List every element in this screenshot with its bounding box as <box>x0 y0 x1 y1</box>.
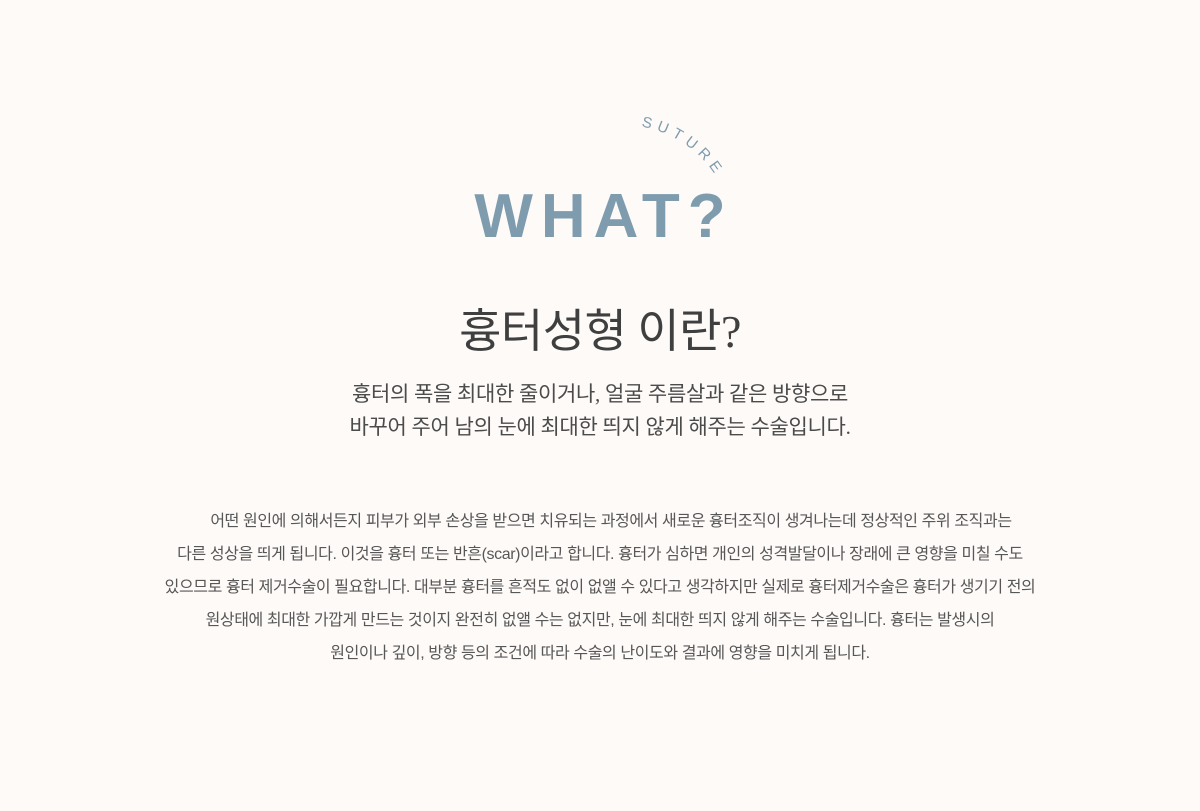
body-line-2: 다른 성상을 띄게 됩니다. 이것을 흉터 또는 반흔(scar)이라고 합니다… <box>0 538 1200 571</box>
page-title: 흉터성형 이란? <box>0 303 1200 361</box>
suture-arc-textpath: SUTURE <box>640 114 728 181</box>
body-line-5: 원인이나 깊이, 방향 등의 조건에 따라 수술의 난이도와 결과에 영향을 미… <box>0 637 1200 670</box>
lead-line-1: 흉터의 폭을 최대한 줄이거나, 얼굴 주름살과 같은 방향으로 <box>0 378 1200 411</box>
body-line-1: 어떤 원인에 의해서든지 피부가 외부 손상을 받으면 치유되는 과정에서 새로… <box>0 505 1200 538</box>
body-paragraph: 어떤 원인에 의해서든지 피부가 외부 손상을 받으면 치유되는 과정에서 새로… <box>0 505 1200 670</box>
body-line-1-text: 어떤 원인에 의해서든지 피부가 외부 손상을 받으면 치유되는 과정에서 새로… <box>210 513 1011 530</box>
lead-line-2: 바꾸어 주어 남의 눈에 최대한 띄지 않게 해주는 수술입니다. <box>0 411 1200 444</box>
lead-paragraph: 흉터의 폭을 최대한 줄이거나, 얼굴 주름살과 같은 방향으로 바꾸어 주어 … <box>0 378 1200 444</box>
page-root: SUTURE WHAT? 흉터성형 이란? 흉터의 폭을 최대한 줄이거나, 얼… <box>0 0 1200 811</box>
body-line-3: 있으므로 흉터 제거수술이 필요합니다. 대부분 흉터를 흔적도 없이 없앨 수… <box>0 571 1200 604</box>
headline-question-mark: ? <box>688 182 726 251</box>
hero-section: SUTURE WHAT? 흉터성형 이란? <box>0 0 1200 360</box>
body-line-4: 원상태에 최대한 가깝게 만드는 것이지 완전히 없앨 수는 없지만, 눈에 최… <box>0 604 1200 637</box>
headline-what: WHAT? <box>0 186 1200 248</box>
suture-arc-text: SUTURE <box>640 114 728 181</box>
headline-what-word: WHAT <box>474 182 687 251</box>
